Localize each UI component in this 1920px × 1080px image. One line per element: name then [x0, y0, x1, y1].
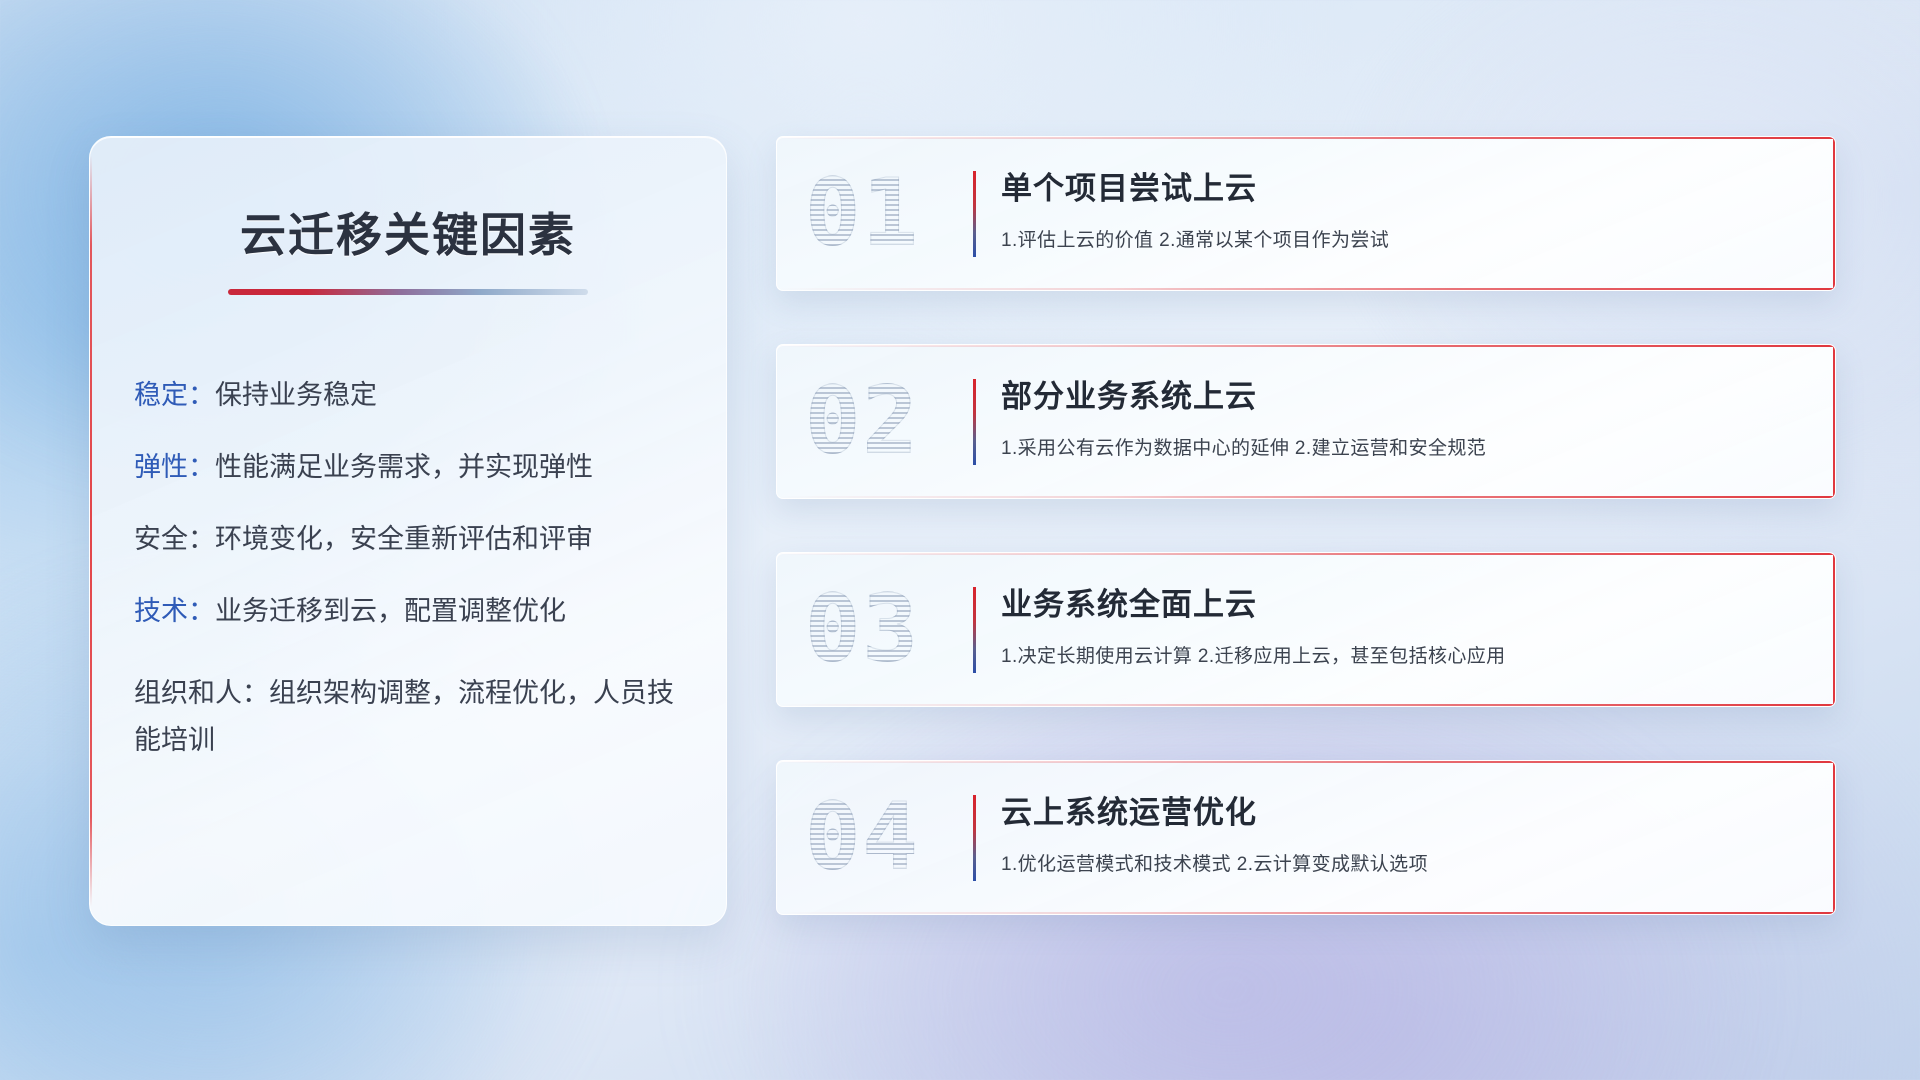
factor-label: 稳定： — [134, 380, 215, 410]
card-title: 单个项目尝试上云 — [1001, 163, 1795, 208]
factor-list: 稳定：保持业务稳定 弹性：性能满足业务需求，并实现弹性 安全：环境变化，安全重新… — [90, 381, 726, 764]
stage-card-01[interactable]: 01 单个项目尝试上云 1.评估上云的价值 2.通常以某个项目作为尝试 — [776, 136, 1836, 291]
card-description: 1.优化运营模式和技术模式 2.云计算变成默认选项 — [1001, 849, 1795, 876]
card-top-accent-line — [777, 345, 1835, 347]
card-title: 业务系统全面上云 — [1001, 579, 1795, 624]
card-description: 1.采用公有云作为数据中心的延伸 2.建立运营和安全规范 — [1001, 433, 1795, 460]
card-title: 云上系统运营优化 — [1001, 787, 1795, 832]
card-top-accent-line — [777, 761, 1835, 763]
factor-label: 弹性： — [134, 452, 215, 482]
factor-label: 安全： — [134, 524, 215, 554]
card-bottom-accent-line — [777, 704, 1835, 706]
card-bottom-accent-line — [777, 912, 1835, 914]
factor-label: 组织和人： — [134, 678, 269, 708]
card-bottom-accent-line — [777, 496, 1835, 498]
factor-text: 保持业务稳定 — [215, 380, 377, 410]
stage-card-03[interactable]: 03 业务系统全面上云 1.决定长期使用云计算 2.迁移应用上云，甚至包括核心应… — [776, 552, 1836, 707]
card-accent-bar-icon — [973, 379, 976, 465]
card-bottom-accent-line — [777, 288, 1835, 290]
factor-item-organization-and-people: 组织和人：组织架构调整，流程优化，人员技能培训 — [134, 670, 690, 764]
factor-text: 性能满足业务需求，并实现弹性 — [215, 452, 593, 482]
stage-card-04[interactable]: 04 云上系统运营优化 1.优化运营模式和技术模式 2.云计算变成默认选项 — [776, 760, 1836, 915]
page-title: 云迁移关键因素 — [90, 199, 726, 265]
factor-item-elasticity: 弹性：性能满足业务需求，并实现弹性 — [134, 453, 690, 482]
key-factors-panel: 云迁移关键因素 稳定：保持业务稳定 弹性：性能满足业务需求，并实现弹性 安全：环… — [89, 136, 727, 926]
card-top-accent-line — [777, 137, 1835, 139]
stage-card-02[interactable]: 02 部分业务系统上云 1.采用公有云作为数据中心的延伸 2.建立运营和安全规范 — [776, 344, 1836, 499]
card-description: 1.评估上云的价值 2.通常以某个项目作为尝试 — [1001, 225, 1795, 252]
migration-stage-card-list: 01 单个项目尝试上云 1.评估上云的价值 2.通常以某个项目作为尝试 02 部… — [776, 136, 1836, 968]
card-body: 云上系统运营优化 1.优化运营模式和技术模式 2.云计算变成默认选项 — [1001, 787, 1795, 876]
card-number-watermark: 03 — [805, 575, 920, 682]
card-number-watermark: 02 — [805, 367, 920, 474]
card-accent-bar-icon — [973, 171, 976, 257]
factor-item-stability: 稳定：保持业务稳定 — [134, 381, 690, 410]
factor-item-security: 安全：环境变化，安全重新评估和评审 — [134, 525, 690, 554]
title-underline-rule — [228, 289, 588, 295]
card-accent-bar-icon — [973, 795, 976, 881]
factor-text: 业务迁移到云，配置调整优化 — [215, 596, 566, 626]
card-accent-bar-icon — [973, 587, 976, 673]
card-number-watermark: 01 — [805, 159, 920, 266]
card-body: 部分业务系统上云 1.采用公有云作为数据中心的延伸 2.建立运营和安全规范 — [1001, 371, 1795, 460]
card-body: 单个项目尝试上云 1.评估上云的价值 2.通常以某个项目作为尝试 — [1001, 163, 1795, 252]
card-top-accent-line — [777, 553, 1835, 555]
card-number-watermark: 04 — [805, 783, 920, 890]
factor-text: 环境变化，安全重新评估和评审 — [215, 524, 593, 554]
card-description: 1.决定长期使用云计算 2.迁移应用上云，甚至包括核心应用 — [1001, 641, 1795, 668]
card-title: 部分业务系统上云 — [1001, 371, 1795, 416]
card-body: 业务系统全面上云 1.决定长期使用云计算 2.迁移应用上云，甚至包括核心应用 — [1001, 579, 1795, 668]
factor-label: 技术： — [134, 596, 215, 626]
factor-item-technology: 技术：业务迁移到云，配置调整优化 — [134, 597, 690, 626]
